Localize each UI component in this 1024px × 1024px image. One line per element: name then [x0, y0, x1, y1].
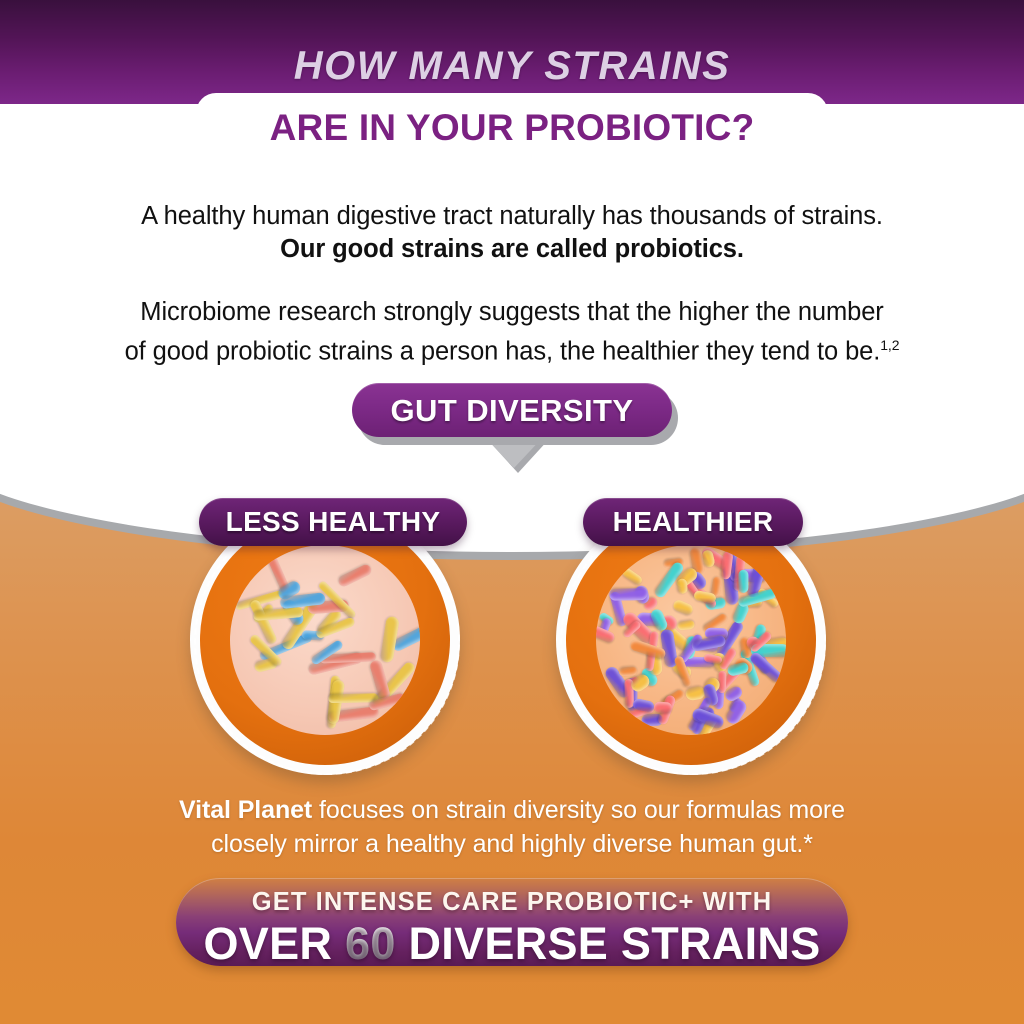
dish-label-healthier: HEALTHIER: [583, 498, 803, 546]
brand-name: Vital Planet: [179, 796, 312, 824]
body-paragraph-1-line-2: Our good strains are called probiotics.: [62, 233, 962, 266]
dish-label-text: LESS HEALTHY: [226, 506, 441, 538]
dish-dashed-outline: [194, 509, 460, 775]
page-subtitle: ARE IN YOUR PROBIOTIC?: [196, 107, 828, 149]
body-copy: A healthy human digestive tract naturall…: [62, 200, 962, 369]
footer-copy: Vital Planet focuses on strain diversity…: [92, 793, 932, 861]
cta-subheadline: OVER 60 DIVERSE STRAINS: [176, 918, 848, 970]
footer-line-1: Vital Planet focuses on strain diversity…: [92, 793, 932, 827]
cta-prefix: OVER: [203, 918, 332, 969]
dish-label-less-healthy: LESS HEALTHY: [199, 498, 467, 546]
footer-line-2: closely mirror a healthy and highly dive…: [92, 827, 932, 861]
dish-label-text: HEALTHIER: [613, 506, 774, 538]
cta-headline: GET INTENSE CARE PROBIOTIC+ WITH: [176, 888, 848, 917]
footer-line-1-rest: focuses on strain diversity so our formu…: [312, 796, 845, 824]
infographic-canvas: HOW MANY STRAINS ARE IN YOUR PROBIOTIC? …: [0, 0, 1024, 1024]
body-paragraph-2-line-2: of good probiotic strains a person has, …: [62, 329, 962, 369]
badge-label: GUT DIVERSITY: [352, 393, 672, 429]
copy-spacer: [62, 266, 962, 296]
cta-strain-count: 60: [345, 918, 396, 969]
body-paragraph-2-text: of good probiotic strains a person has, …: [125, 338, 881, 366]
page-title: HOW MANY STRAINS: [0, 44, 1024, 89]
body-paragraph-1-line-1: A healthy human digestive tract naturall…: [62, 200, 962, 233]
citation-superscript: 1,2: [880, 337, 899, 353]
cta-suffix: DIVERSE STRAINS: [408, 918, 820, 969]
body-paragraph-2-line-1: Microbiome research strongly suggests th…: [62, 296, 962, 329]
dish-dashed-outline: [560, 509, 826, 775]
cta-banner[interactable]: GET INTENSE CARE PROBIOTIC+ WITH OVER 60…: [176, 878, 848, 966]
